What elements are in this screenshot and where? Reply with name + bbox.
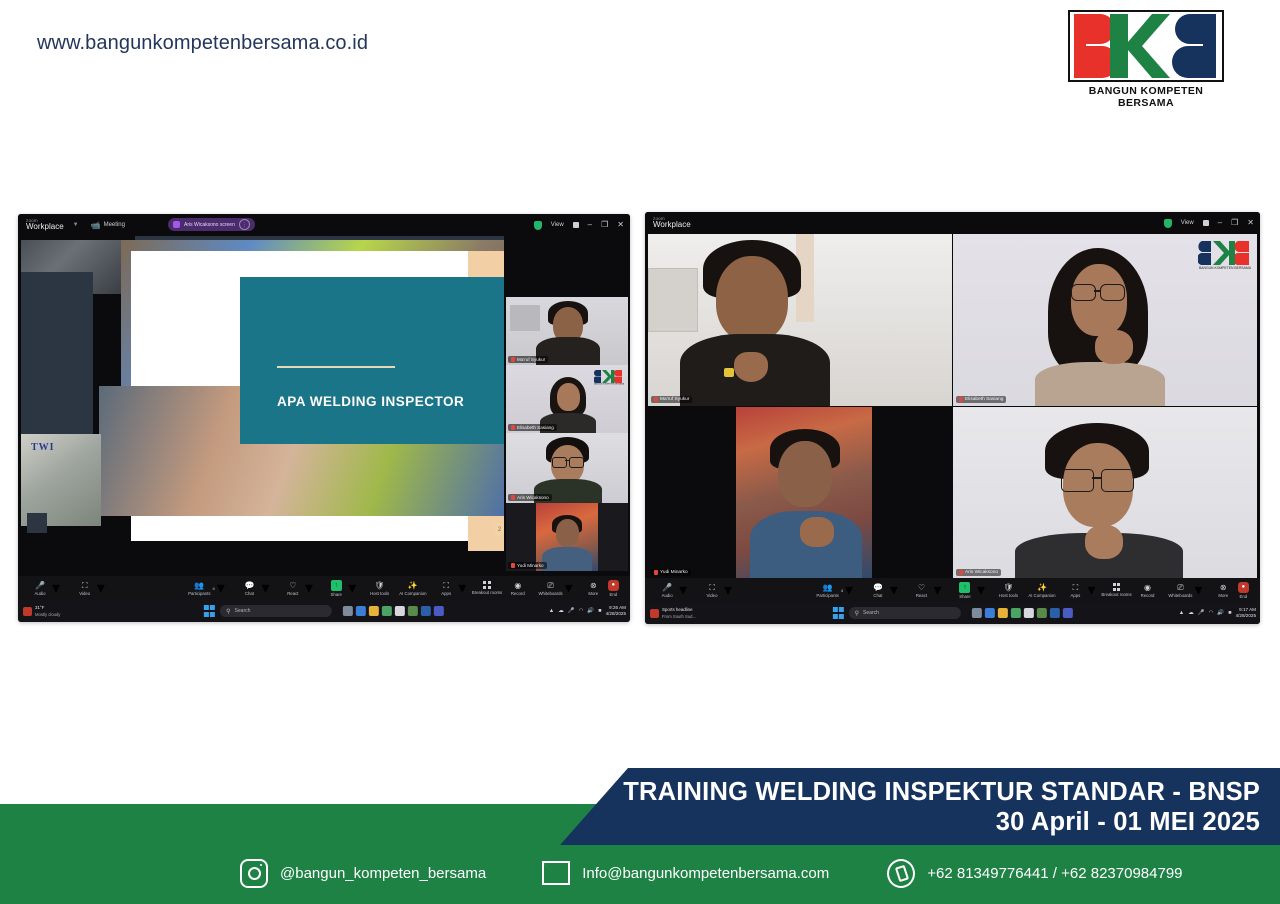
share-indicator-icon <box>173 221 180 228</box>
people-icon: 👥 <box>823 583 833 592</box>
video-caret-icon[interactable]: ▾ <box>97 578 105 598</box>
chat-caret-icon[interactable]: ▾ <box>890 580 898 600</box>
left-titlebar-controls: View – ❐ ✕ <box>534 214 624 236</box>
zoom-app-icon[interactable] <box>408 606 418 616</box>
slide-title: APA WELDING INSPECTOR <box>277 394 504 409</box>
grid-name-badge-2: Elisabeth Sasiang <box>956 396 1006 403</box>
mic-muted-icon <box>511 563 515 568</box>
taskview-icon[interactable] <box>972 608 982 618</box>
grid-cell-participant-4[interactable]: Aris Wicaksono <box>953 407 1257 579</box>
bkb-logo-subtitle: BANGUN KOMPETEN BERSAMA <box>1068 85 1224 109</box>
volume-icon[interactable]: 🔊 <box>1217 610 1224 616</box>
thumbnail-name-badge-4: Yudi Minarko <box>508 562 547 569</box>
toolbar-group-apps[interactable]: ⛶ Apps ▾ <box>436 578 466 598</box>
toolbar-end-button[interactable]: ● End <box>603 580 623 597</box>
thumbnail-participant-1[interactable]: Ma'ruf Syukur <box>506 297 628 365</box>
taskbar-system-tray[interactable]: ▲ ☁ 🎤 ◠ 🔊 ■ 9:17 AM 4/28/2025 <box>1179 607 1256 619</box>
toolbar-share-button[interactable]: ↑ Share <box>955 582 975 599</box>
footer-email[interactable]: Info@bangunkompetenbersama.com <box>542 859 829 887</box>
video-caret-icon[interactable]: ▾ <box>724 580 732 600</box>
shared-screen-content: TWI APA WELDING INSPECTOR 2 <box>21 236 504 556</box>
participants-count-badge: 4 <box>213 586 215 591</box>
right-titlebar-controls: View – ❐ ✕ <box>1164 212 1254 234</box>
taskbar-center-group[interactable]: ⚲ Search <box>204 605 444 617</box>
encryption-shield-icon[interactable] <box>1164 219 1172 228</box>
word-icon[interactable] <box>421 606 431 616</box>
toolbar-group-share[interactable]: ↑ Share ▾ <box>326 578 356 598</box>
grid-name-badge-4: Aris Wicaksono <box>956 569 1001 576</box>
bkb-logo-mark <box>1068 10 1224 82</box>
view-layout-icon[interactable] <box>1203 220 1209 226</box>
toolbar-group-chat[interactable]: 💬 Chat ▾ <box>868 580 898 600</box>
toolbar-group-whiteboards[interactable]: ⎚ Whiteboards ▾ <box>538 578 572 598</box>
toolbar-whiteboards-button[interactable]: ⎚ Whiteboards <box>1168 583 1192 598</box>
left-windows-taskbar[interactable]: 31°F Mostly cloudy ⚲ Search ▲ <box>18 600 630 622</box>
event-title-banner: TRAINING WELDING INSPEKTUR STANDAR - BNS… <box>560 768 1280 845</box>
record-icon: ◉ <box>514 581 521 590</box>
rooms-icon: ⛶ <box>1073 583 1079 592</box>
instagram-icon <box>240 859 268 887</box>
maximize-button[interactable]: ❐ <box>1231 219 1238 227</box>
toolbar-participants-button[interactable]: 👥 Participants <box>816 583 838 598</box>
taskbar-system-tray[interactable]: ▲ ☁ 🎤 ◠ 🔊 ■ 9:26 AM 4/28/2025 <box>549 605 626 617</box>
toolbar-group-react[interactable]: ♡ React ▾ <box>283 578 313 598</box>
chrome-icon[interactable] <box>382 606 392 616</box>
record-icon: ◉ <box>1144 583 1151 592</box>
thumbnail-name-badge-1: Ma'ruf Syukur <box>508 356 548 363</box>
toolbar-group-react[interactable]: ♡ React ▾ <box>911 580 941 600</box>
right-window-titlebar: zoom Workplace View – ❐ ✕ <box>645 212 1260 234</box>
toolbar-group-share[interactable]: ↑ Share ▾ <box>955 580 985 600</box>
whiteboard-icon: ⎚ <box>1177 583 1183 592</box>
logo-letter-b-navy <box>1156 12 1222 80</box>
website-url: www.bangunkompetenbersama.co.id <box>37 32 368 55</box>
close-button[interactable]: ✕ <box>617 221 624 229</box>
whiteboard-icon: ⎚ <box>547 581 553 590</box>
word-icon[interactable] <box>1050 608 1060 618</box>
toolbar-group-participants[interactable]: 👥 Participants 4 ▾ <box>816 580 853 600</box>
toolbar-react-button[interactable]: ♡ React <box>283 581 303 596</box>
toolbar-record-button[interactable]: ◉ Record <box>1138 583 1158 598</box>
react-caret-icon[interactable]: ▾ <box>933 580 941 600</box>
chrome-icon[interactable] <box>1011 608 1021 618</box>
teams-icon[interactable] <box>434 606 444 616</box>
tray-cloud-icon[interactable]: ☁ <box>1188 610 1194 616</box>
view-label[interactable]: View <box>551 222 564 228</box>
taskbar-clock[interactable]: 9:26 AM 4/28/2025 <box>606 605 626 617</box>
view-layout-icon[interactable] <box>573 222 579 228</box>
zoom-app-icon[interactable] <box>1037 608 1047 618</box>
search-icon: ⚲ <box>855 610 859 617</box>
toolbar-share-button[interactable]: ↑ Share <box>326 580 346 597</box>
participant-video-3 <box>648 407 952 579</box>
more-icon: ⊗ <box>1220 583 1227 592</box>
shield-icon: 🛡 <box>374 581 384 590</box>
participant-video-2: BANGUN KOMPETEN BERSAMA <box>506 365 628 433</box>
battery-icon[interactable]: ■ <box>598 608 601 614</box>
notes-icon[interactable] <box>395 606 405 616</box>
taskbar-clock[interactable]: 9:17 AM 4/28/2025 <box>1236 607 1256 619</box>
toolbar-video-button[interactable]: ⛶ Video <box>702 583 722 598</box>
mail-icon <box>542 859 570 887</box>
footer-instagram[interactable]: @bangun_kompeten_bersama <box>240 859 486 887</box>
participant-thumbnail-strip: Ma'ruf Syukur BANGUN KOMPETEN <box>506 297 628 571</box>
footer-phone[interactable]: +62 81349776441 / +62 82370984799 <box>887 859 1182 887</box>
encryption-shield-icon[interactable] <box>534 221 542 230</box>
mic-muted-icon <box>511 495 515 500</box>
footer-contact-bar: @bangun_kompeten_bersama Info@bangunkomp… <box>0 842 1280 904</box>
participant-grid: Ma'ruf Syukur <box>648 234 1257 579</box>
notes-icon[interactable] <box>1024 608 1034 618</box>
taskview-icon[interactable] <box>343 606 353 616</box>
teams-icon[interactable] <box>1063 608 1073 618</box>
apps-caret-icon[interactable]: ▾ <box>1087 580 1095 600</box>
camera-icon: ⛶ <box>709 583 715 592</box>
taskbar-weather-widget[interactable]: 31°F Mostly cloudy <box>23 604 60 618</box>
tab-meeting[interactable]: 📹 Meeting <box>91 221 125 230</box>
thumbnail-participant-2[interactable]: BANGUN KOMPETEN BERSAMA Elisabeth Sasian… <box>506 365 628 433</box>
view-label[interactable]: View <box>1181 220 1194 226</box>
react-caret-icon[interactable]: ▾ <box>305 578 313 598</box>
toolbar-audio-button[interactable]: 🎤 Audio <box>30 581 50 596</box>
toolbar-group-audio[interactable]: 🎤 Audio ▾ <box>657 580 687 600</box>
toolbar-group-whiteboards[interactable]: ⎚ Whiteboards ▾ <box>1168 580 1202 600</box>
toolbar-ai-companion-button[interactable]: ✨ AI Companion <box>1032 583 1052 598</box>
toolbar-chat-button[interactable]: 💬 Chat <box>239 581 259 596</box>
end-call-icon: ● <box>608 580 619 591</box>
mic-muted-icon <box>959 570 963 575</box>
toolbar-video-button[interactable]: ⛶ Video <box>75 581 95 596</box>
slide-small-square <box>27 513 47 533</box>
maximize-button[interactable]: ❐ <box>601 221 608 229</box>
sparkle-icon: ✨ <box>408 581 418 590</box>
taskbar-center-group[interactable]: ⚲ Search <box>832 607 1072 619</box>
grid-cell-participant-3[interactable]: Yudi Minarko <box>648 407 952 579</box>
chevron-down-icon[interactable]: ▼ <box>73 222 79 228</box>
taskbar-pinned-apps[interactable] <box>343 606 444 616</box>
zoom-window-right-screenshot[interactable]: zoom Workplace View – ❐ ✕ <box>645 212 1260 624</box>
slide-dark-block <box>21 272 93 435</box>
toolbar-group-video[interactable]: ⛶ Video ▾ <box>702 580 732 600</box>
participant-video-1 <box>648 234 952 406</box>
toolbar-group-participants[interactable]: 👥 Participants 4 ▾ <box>188 578 225 598</box>
toolbar-group-audio[interactable]: 🎤 Audio ▾ <box>30 578 60 598</box>
phone-icon <box>887 859 915 887</box>
participants-count-badge: 4 <box>841 588 843 593</box>
microphone-icon: 🎤 <box>35 581 45 590</box>
mic-muted-icon <box>959 397 963 402</box>
toolbar-react-button[interactable]: ♡ React <box>911 583 931 598</box>
windows-start-icon[interactable] <box>832 607 843 618</box>
toolbar-group-chat[interactable]: 💬 Chat ▾ <box>239 578 269 598</box>
audio-caret-icon[interactable]: ▾ <box>52 578 60 598</box>
bkb-watermark-logo: BANGUN KOMPETEN BERSAMA <box>1198 239 1252 269</box>
bkb-watermark-logo: BANGUN KOMPETEN BERSAMA <box>594 369 624 385</box>
zoom-brand-right: zoom Workplace <box>653 217 691 230</box>
event-title-line1: TRAINING WELDING INSPEKTUR STANDAR - BNS… <box>623 778 1260 807</box>
whiteboards-caret-icon[interactable]: ▾ <box>565 578 573 598</box>
toolbar-end-button[interactable]: ● End <box>1233 582 1253 599</box>
audio-caret-icon[interactable]: ▾ <box>679 580 687 600</box>
toolbar-apps-button[interactable]: ⛶ Apps <box>1065 583 1085 598</box>
slide-title-rule <box>277 366 395 368</box>
taskbar-pinned-apps[interactable] <box>972 608 1073 618</box>
tray-expand-icon[interactable]: ▲ <box>1179 610 1184 616</box>
chat-icon: 💬 <box>244 581 254 590</box>
search-icon: ⚲ <box>226 608 230 615</box>
toolbar-whiteboards-button[interactable]: ⎚ Whiteboards <box>538 581 562 596</box>
news-icon <box>650 609 659 618</box>
microphone-icon: 🎤 <box>662 583 672 592</box>
participant-video-2: BANGUN KOMPETEN BERSAMA <box>953 234 1257 406</box>
mic-muted-icon <box>654 570 658 575</box>
edge-icon[interactable] <box>985 608 995 618</box>
left-meeting-stage: TWI APA WELDING INSPECTOR 2 Ma'ruf Syuku… <box>18 236 630 584</box>
camera-icon: ⛶ <box>82 581 88 590</box>
toolbar-record-button[interactable]: ◉ Record <box>508 581 528 596</box>
windows-start-icon[interactable] <box>204 605 215 616</box>
minimize-button[interactable]: – <box>1218 219 1222 227</box>
zoom-window-left-screenshot[interactable]: zoom Workplace ▼ 📹 Meeting Aris Wicakson… <box>18 214 630 622</box>
participants-caret-icon[interactable]: ▾ <box>217 578 225 598</box>
toolbar-group-apps[interactable]: ⛶ Apps ▾ <box>1065 580 1095 600</box>
toolbar-participants-button[interactable]: 👥 Participants <box>188 581 210 596</box>
participant-video-1 <box>506 297 628 365</box>
whiteboards-caret-icon[interactable]: ▾ <box>1194 580 1202 600</box>
apps-caret-icon[interactable]: ▾ <box>458 578 466 598</box>
toolbar-audio-button[interactable]: 🎤 Audio <box>657 583 677 598</box>
explorer-icon[interactable] <box>369 606 379 616</box>
rooms-icon: ⛶ <box>443 581 449 590</box>
video-camera-icon: 📹 <box>91 221 101 230</box>
participant-video-4 <box>506 503 628 571</box>
zoom-brand-left: zoom Workplace <box>26 219 64 232</box>
toolbar-more-button[interactable]: ⊗ More <box>583 581 603 596</box>
share-icon: ↑ <box>331 580 342 591</box>
battery-icon[interactable]: ■ <box>1228 610 1231 616</box>
left-meeting-toolbar[interactable]: 🎤 Audio ▾ ⛶ Video ▾ 👥 Participants 4 ▾ <box>18 576 630 600</box>
share-icon: ↑ <box>959 582 970 593</box>
grid-name-badge-1: Ma'ruf Syukur <box>651 396 692 403</box>
participant-video-3 <box>506 433 628 503</box>
toolbar-host-tools-button[interactable]: 🛡 Host tools <box>370 581 390 596</box>
thumbnail-name-badge-2: Elisabeth Sasiang <box>508 424 557 431</box>
heart-icon: ♡ <box>289 581 296 590</box>
volume-icon[interactable]: 🔊 <box>587 608 594 614</box>
shield-icon: 🛡 <box>1003 583 1013 592</box>
twi-watermark: TWI <box>31 442 55 453</box>
taskbar-news-widget[interactable]: Sports headline From South Sud... <box>650 606 696 620</box>
explorer-icon[interactable] <box>998 608 1008 618</box>
minimize-button[interactable]: – <box>588 221 592 229</box>
left-window-titlebar: zoom Workplace ▼ 📹 Meeting Aris Wicakson… <box>18 214 630 236</box>
weather-icon <box>23 607 32 616</box>
people-icon: 👥 <box>194 581 204 590</box>
grid-cell-participant-2[interactable]: BANGUN KOMPETEN BERSAMA Elisabeth Sasian… <box>953 234 1257 406</box>
toolbar-ai-companion-button[interactable]: ✨ AI Companion <box>403 581 423 596</box>
mic-muted-icon <box>511 357 515 362</box>
event-title-line2: 30 April - 01 MEI 2025 <box>996 808 1260 837</box>
tray-expand-icon[interactable]: ▲ <box>549 608 554 614</box>
toolbar-group-video[interactable]: ⛶ Video ▾ <box>75 578 105 598</box>
right-meeting-toolbar[interactable]: 🎤 Audio ▾ ⛶ Video ▾ 👥 Participants 4 ▾ <box>645 578 1260 602</box>
tray-cloud-icon[interactable]: ☁ <box>558 608 564 614</box>
toolbar-breakout-rooms-button[interactable]: Breakout rooms <box>1106 583 1126 596</box>
share-caret-icon[interactable]: ▾ <box>348 578 356 598</box>
more-icon: ⊗ <box>590 581 597 590</box>
toolbar-more-button[interactable]: ⊗ More <box>1213 583 1233 598</box>
slide-title-card <box>240 277 504 444</box>
view-options-icon[interactable]: ⋮ <box>239 219 250 230</box>
end-call-icon: ● <box>1238 582 1249 593</box>
apps-grid-icon <box>1113 583 1120 590</box>
toolbar-chat-button[interactable]: 💬 Chat <box>868 583 888 598</box>
chat-caret-icon[interactable]: ▾ <box>261 578 269 598</box>
mic-muted-icon <box>654 397 658 402</box>
thumbnail-participant-4[interactable]: Yudi Minarko <box>506 503 628 571</box>
bkb-logo: BANGUN KOMPETEN BERSAMA <box>1068 10 1224 102</box>
right-meeting-stage: Ma'ruf Syukur <box>645 234 1260 579</box>
screen-share-banner[interactable]: Aris Wicaksono screen ⋮ <box>168 218 255 231</box>
taskbar-search-input[interactable]: ⚲ Search <box>849 607 961 619</box>
toolbar-breakout-rooms-button[interactable]: Breakout rooms <box>477 581 497 594</box>
svg-text:BANGUN KOMPETEN BERSAMA: BANGUN KOMPETEN BERSAMA <box>1199 266 1252 269</box>
participant-video-4 <box>953 407 1257 579</box>
thumbnail-participant-3[interactable]: Aris Wicaksono <box>506 433 628 503</box>
grid-name-badge-3: Yudi Minarko <box>651 569 691 576</box>
close-button[interactable]: ✕ <box>1247 219 1254 227</box>
apps-grid-icon <box>483 581 490 588</box>
mic-muted-icon <box>511 425 515 430</box>
tray-mic-icon[interactable]: 🎤 <box>568 608 575 614</box>
chat-icon: 💬 <box>873 583 883 592</box>
tray-mic-icon[interactable]: 🎤 <box>1198 610 1205 616</box>
edge-icon[interactable] <box>356 606 366 616</box>
toolbar-apps-button[interactable]: ⛶ Apps <box>436 581 456 596</box>
wifi-icon[interactable]: ◠ <box>579 608 584 614</box>
wifi-icon[interactable]: ◠ <box>1209 610 1214 616</box>
heart-icon: ♡ <box>918 583 925 592</box>
grid-cell-participant-1[interactable]: Ma'ruf Syukur <box>648 234 952 406</box>
right-windows-taskbar[interactable]: Sports headline From South Sud... ⚲ Sear… <box>645 602 1260 624</box>
sparkle-icon: ✨ <box>1037 583 1047 592</box>
slide-page-number: 2 <box>493 523 504 536</box>
thumbnail-name-badge-3: Aris Wicaksono <box>508 494 552 501</box>
toolbar-host-tools-button[interactable]: 🛡 Host tools <box>998 583 1018 598</box>
share-caret-icon[interactable]: ▾ <box>977 580 985 600</box>
taskbar-search-input[interactable]: ⚲ Search <box>220 605 332 617</box>
participants-caret-icon[interactable]: ▾ <box>845 580 853 600</box>
